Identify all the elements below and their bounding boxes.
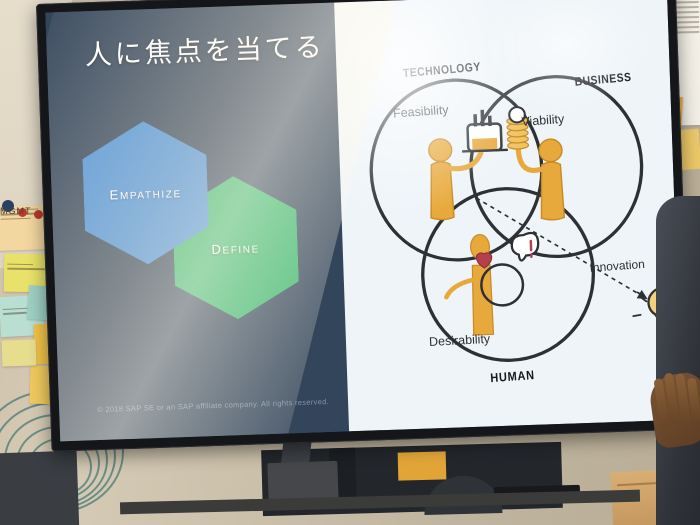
slide-left-panel: 人に焦点を当てる Define Empathize © 2018 SAP SE … — [45, 3, 349, 442]
person-torso — [656, 196, 700, 525]
hexagon-define-label: Define — [211, 236, 260, 259]
dark-panel-bottom-left — [0, 451, 79, 525]
photo-scene: Group F MGMT — [0, 0, 700, 525]
label-desirability: Desirability — [429, 331, 491, 348]
yellow-paper-on-shelf — [398, 451, 447, 480]
person-foreground — [646, 196, 700, 525]
hexagon-group: Define Empathize — [73, 115, 341, 354]
slide-title: 人に焦点を当てる — [84, 25, 325, 72]
television: 人に焦点を当てる Define Empathize © 2018 SAP SE … — [36, 0, 691, 452]
presentation-slide: 人に焦点を当てる Define Empathize © 2018 SAP SE … — [45, 0, 682, 441]
sticky-note — [2, 339, 37, 366]
figure-technology — [428, 109, 511, 220]
hexagon-empathize-label: Empathize — [109, 181, 182, 205]
slide-right-panel: Feasibility TECHNOLOGY Viability BUSINES… — [334, 0, 682, 431]
tv-screen: 人に焦点を当てる Define Empathize © 2018 SAP SE … — [45, 0, 682, 441]
copyright-text: © 2018 SAP SE or an SAP affiliate compan… — [97, 397, 329, 414]
label-viability: Viability — [521, 112, 565, 129]
design-thinking-venn-diagram — [334, 0, 682, 431]
person-hand — [647, 371, 700, 450]
figure-human — [444, 233, 541, 336]
